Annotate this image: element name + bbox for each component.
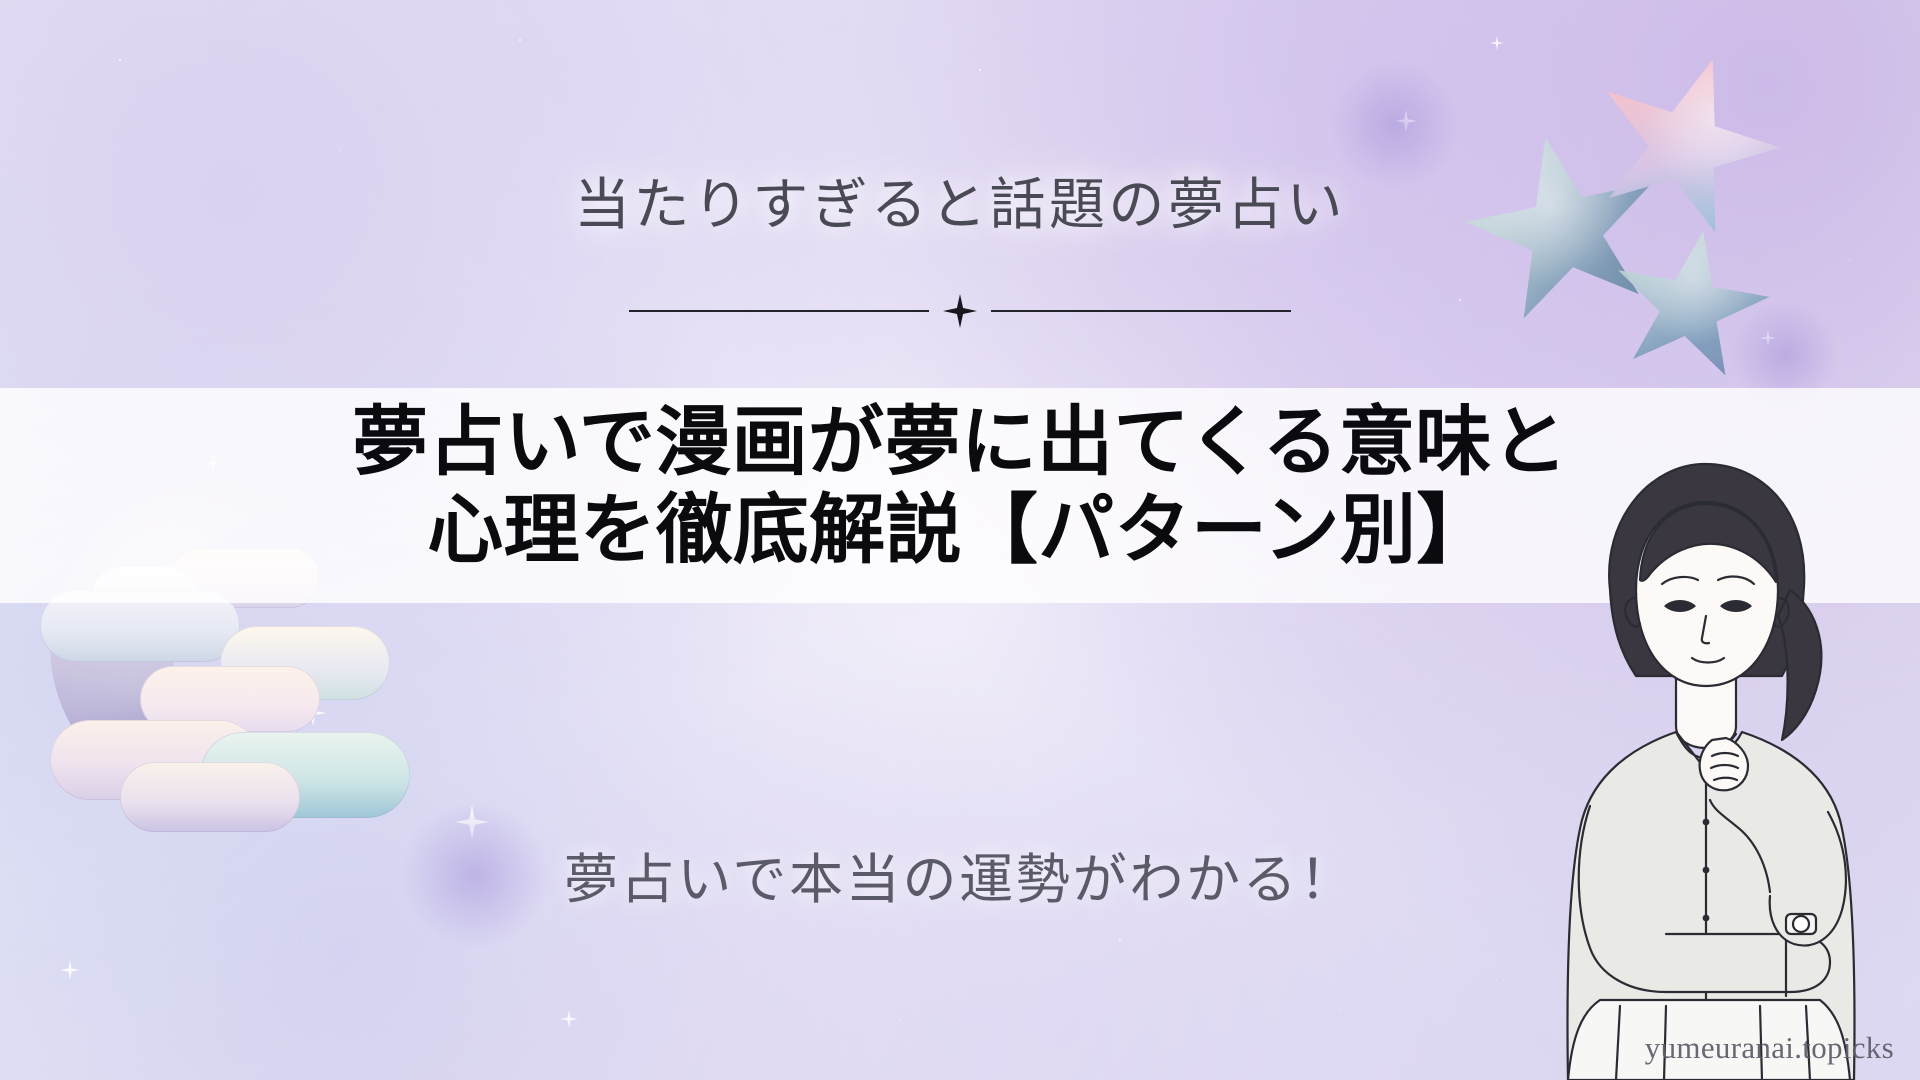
cloud-shape [50, 720, 260, 800]
eyebrow-text: 当たりすぎると話題の夢占い [0, 160, 1920, 241]
divider [0, 296, 1920, 326]
watermark-text: yumeuranai.topicks [1645, 1030, 1894, 1066]
page-title: 夢占いで漫画が夢に出てくる意味と 心理を徹底解説【パターン別】 [0, 398, 1920, 574]
sparkle-icon [300, 700, 326, 726]
sparkle-icon [455, 805, 489, 839]
sparkle-icon [1395, 110, 1417, 132]
sparkle-icon [1760, 330, 1776, 346]
divider-rule-left [629, 310, 929, 312]
sparkle-icon [60, 960, 80, 980]
page-title-line-2: 心理を徹底解説【パターン別】 [0, 486, 1920, 574]
cloud-shape [200, 732, 410, 818]
sparkle-icon [1490, 36, 1504, 50]
cloud-shape [140, 666, 320, 732]
four-point-sparkle-icon [943, 294, 977, 328]
cloud-shape [120, 762, 300, 832]
divider-rule-right [991, 310, 1291, 312]
thumbnail-canvas: 当たりすぎると話題の夢占い 夢占いで漫画が夢に出てくる意味と 心理を徹底解説【パ… [0, 0, 1920, 1080]
cloud-shape [220, 626, 390, 700]
tagline-text: 夢占いで本当の運勢がわかる！ [0, 835, 1920, 914]
sparkle-icon [560, 1010, 578, 1028]
page-title-line-1: 夢占いで漫画が夢に出てくる意味と [352, 397, 1568, 486]
